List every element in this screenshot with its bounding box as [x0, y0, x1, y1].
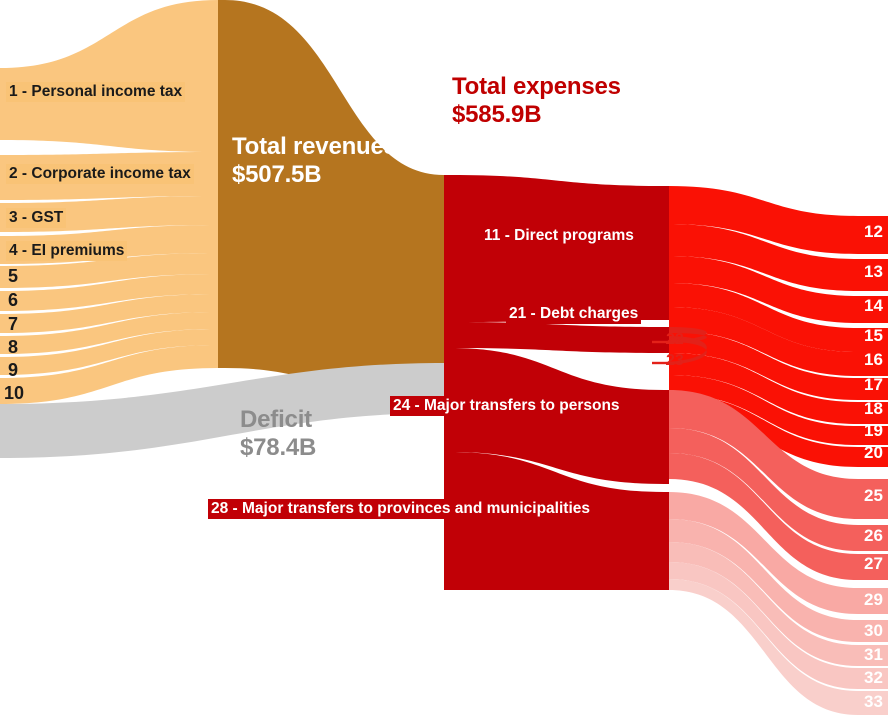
leaf-node-label-25[interactable]: 25 — [864, 486, 883, 506]
leaf-node-label-12[interactable]: 12 — [864, 222, 883, 242]
revenue-node-label-10[interactable]: 10 — [2, 383, 26, 404]
total-revenues-line1: Total revenues — [232, 133, 397, 161]
flow-1-to-revenues — [0, 0, 218, 152]
expense-node-label-11[interactable]: 11 - Direct programs — [481, 226, 637, 246]
total-revenues-line2: $507.5B — [232, 161, 397, 189]
leaf-node-label-14[interactable]: 14 — [864, 296, 883, 316]
leaf-node-label-32[interactable]: 32 — [864, 668, 883, 688]
revenue-node-label-3[interactable]: 3 - GST — [6, 208, 66, 228]
leaf-node-label-30[interactable]: 30 — [864, 621, 883, 641]
leaf-node-label-19[interactable]: 19 — [864, 421, 883, 441]
revenue-node-label-8[interactable]: 8 — [6, 337, 20, 358]
leaf-node-label-18[interactable]: 18 — [864, 399, 883, 419]
expense-node-label-23[interactable]: 23 — [666, 352, 684, 370]
node-bar-28 — [664, 492, 669, 590]
leaf-node-label-33[interactable]: 33 — [864, 692, 883, 712]
node-bar-total-revenues — [218, 0, 225, 368]
revenue-node-label-5[interactable]: 5 — [6, 266, 20, 287]
revenue-node-label-2[interactable]: 2 - Corporate income tax — [6, 164, 194, 184]
total-expenses-title: Total expenses $585.9B — [452, 73, 621, 128]
sankey-svg — [0, 0, 888, 720]
expense-node-label-21[interactable]: 21 - Debt charges — [506, 304, 641, 324]
leaf-node-label-13[interactable]: 13 — [864, 262, 883, 282]
leaf-node-label-15[interactable]: 15 — [864, 326, 883, 346]
total-revenues-title: Total revenues $507.5B — [232, 133, 397, 188]
flow-expenses-to-11 — [451, 175, 664, 322]
node-bar-24 — [664, 390, 669, 484]
leaf-node-label-17[interactable]: 17 — [864, 375, 883, 395]
revenue-node-label-6[interactable]: 6 — [6, 290, 20, 311]
revenue-node-label-4[interactable]: 4 - EI premiums — [6, 241, 127, 261]
revenue-node-label-9[interactable]: 9 — [6, 360, 20, 381]
leaf-node-label-27[interactable]: 27 — [864, 554, 883, 574]
leaf-node-label-29[interactable]: 29 — [864, 590, 883, 610]
flow-expenses-to-21 — [451, 322, 664, 353]
leaf-node-label-26[interactable]: 26 — [864, 526, 883, 546]
expense-node-label-22[interactable]: 22 — [666, 331, 684, 349]
node-bar-11 — [664, 186, 669, 320]
total-expenses-line2: $585.9B — [452, 101, 621, 129]
total-expenses-line1: Total expenses — [452, 73, 621, 101]
leaf-node-label-16[interactable]: 16 — [864, 350, 883, 370]
leaf-node-label-20[interactable]: 20 — [864, 443, 883, 463]
sankey-diagram: 1 - Personal income tax 2 - Corporate in… — [0, 0, 888, 720]
expense-node-label-28[interactable]: 28 - Major transfers to provinces and mu… — [208, 499, 593, 519]
deficit-line2: $78.4B — [240, 434, 316, 462]
deficit-line1: Deficit — [240, 406, 316, 434]
deficit-title: Deficit $78.4B — [240, 406, 316, 461]
flow-revenues-to-expenses — [225, 0, 444, 413]
revenue-flows — [0, 0, 218, 404]
revenue-node-label-1[interactable]: 1 - Personal income tax — [6, 82, 185, 102]
revenue-node-label-7[interactable]: 7 — [6, 314, 20, 335]
leaf-node-label-31[interactable]: 31 — [864, 645, 883, 665]
node-bar-total-expenses — [444, 175, 451, 590]
expense-node-label-24[interactable]: 24 - Major transfers to persons — [390, 396, 623, 416]
